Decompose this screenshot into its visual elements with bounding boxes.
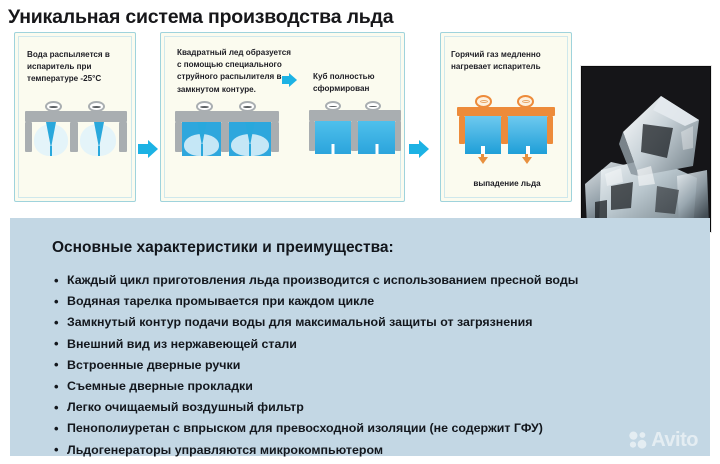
process-step-3-label: Куб полностью сформирован — [313, 71, 397, 95]
features-box: Основные характеристики и преимущества: … — [10, 218, 710, 456]
features-list: Каждый цикл приготовления льда производи… — [54, 270, 700, 461]
ice-cubes-photo — [580, 65, 712, 233]
process-step-4-caption: выпадение льда — [441, 179, 573, 188]
avito-logo-icon — [628, 430, 648, 450]
feature-item: Встроенные дверные ручки — [54, 355, 700, 376]
features-title: Основные характеристики и преимущества: — [52, 239, 394, 257]
water-spray-mold-icon — [25, 101, 127, 163]
feature-item: Пенополиуретан с впрыском для превосходн… — [54, 418, 700, 439]
process-step-4: Горячий газ медленно нагревает испарител… — [440, 32, 572, 202]
process-step-2: Квадратный лед образуется с помощью спец… — [160, 32, 405, 202]
formed-cube-mold-icon — [309, 101, 401, 163]
process-step-2-label: Квадратный лед образуется с помощью спец… — [177, 47, 295, 96]
process-step-1: Вода распыляется в испаритель при темпер… — [14, 32, 136, 202]
feature-item: Льдогенераторы управляются микрокомпьюте… — [54, 440, 700, 461]
avito-watermark-label: Avito — [651, 430, 698, 450]
ice-forming-mold-icon — [175, 101, 279, 163]
feature-item: Каждый цикл приготовления льда производи… — [54, 270, 700, 291]
process-diagram: Вода распыляется в испаритель при темпер… — [0, 32, 720, 204]
feature-item: Внешний вид из нержавеющей стали — [54, 334, 700, 355]
hot-gas-mold-icon — [457, 95, 555, 165]
page-title: Уникальная система производства льда — [8, 6, 393, 29]
feature-item: Съемные дверные прокладки — [54, 376, 700, 397]
avito-watermark: Avito — [628, 430, 698, 450]
feature-item: Водяная тарелка промывается при каждом ц… — [54, 291, 700, 312]
feature-item: Замкнутый контур подачи воды для максима… — [54, 312, 700, 333]
process-step-1-label: Вода распыляется в испаритель при темпер… — [27, 49, 131, 86]
feature-item: Легко очищаемый воздушный фильтр — [54, 397, 700, 418]
process-step-4-label: Горячий газ медленно нагревает испарител… — [451, 49, 567, 73]
